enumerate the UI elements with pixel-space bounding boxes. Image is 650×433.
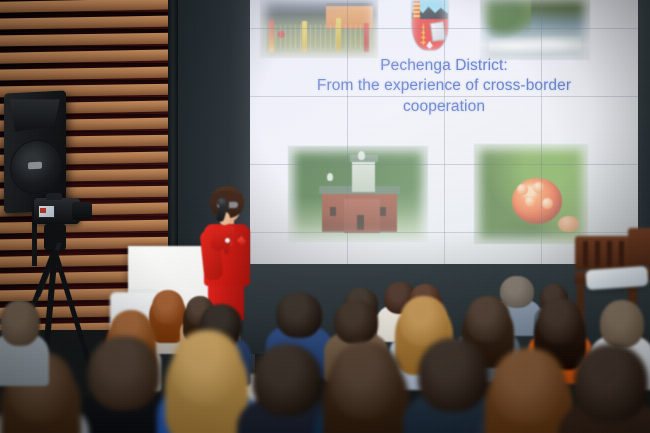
church-building	[322, 190, 398, 232]
berry-drupelet-4	[542, 198, 553, 209]
chair-backrest	[628, 228, 650, 266]
audience-member	[172, 330, 242, 433]
slide-image-church	[288, 146, 428, 242]
audience-member	[330, 342, 402, 433]
shield-mountains	[412, 5, 448, 19]
shield-drop	[426, 41, 432, 49]
audience-member	[492, 348, 566, 433]
barrier-post-3	[336, 18, 341, 51]
audience-head	[88, 336, 160, 410]
audience-head	[334, 300, 378, 344]
church-window-2	[380, 207, 386, 216]
audience-head	[574, 344, 648, 422]
chair-slat	[583, 241, 588, 267]
shield-shape	[411, 0, 449, 51]
chair-slat	[607, 241, 612, 267]
audience-member	[88, 336, 160, 433]
audience-head	[0, 300, 40, 346]
camera-screen-image	[40, 208, 46, 213]
church-bell-tower	[352, 159, 374, 192]
audience-head	[152, 290, 184, 324]
camera-viewfinder	[46, 193, 62, 200]
audience-head	[330, 342, 402, 418]
church-trees	[288, 146, 428, 242]
speaker-logo	[28, 162, 42, 170]
berry-drupelet-1	[517, 184, 528, 195]
audience-member	[574, 344, 648, 433]
river-foam	[489, 36, 581, 56]
checkpoint-building	[326, 3, 373, 28]
audience-head	[172, 330, 242, 404]
chair-slat	[619, 241, 624, 267]
church-porch	[344, 199, 380, 234]
audience-head	[252, 344, 322, 416]
slide-image-cloudberry	[474, 144, 588, 244]
church-roof	[319, 186, 400, 194]
slide-title-line2: From the experience of cross-border	[250, 76, 638, 96]
audience-head	[276, 292, 322, 338]
audience-head	[538, 298, 582, 344]
barrier-post-1	[269, 20, 274, 52]
slide-image-border-crossing	[260, 0, 378, 58]
shield-pylon	[418, 23, 429, 45]
chair-slat	[595, 241, 600, 267]
slide-image-river-rapids	[480, 0, 590, 60]
church-dome-center	[358, 151, 365, 160]
checkpoint-fence	[265, 25, 374, 50]
projection-screen: Pechenga District: From the experience o…	[250, 0, 638, 266]
barrier-post-4	[364, 23, 369, 52]
cloudberry-fruit	[512, 178, 562, 224]
shield-ore-emblem	[430, 21, 447, 42]
audience-member	[418, 338, 488, 433]
slide-title-line3: cooperation	[250, 97, 638, 117]
slide-title-line1: Pechenga District:	[250, 56, 638, 76]
cloudberry-secondary	[558, 216, 579, 232]
photo-scene: Pechenga District: From the experience o…	[0, 0, 650, 433]
church-door	[357, 215, 364, 230]
audience-member	[0, 300, 40, 406]
speaker-horn	[10, 97, 60, 134]
church-dome-left	[327, 173, 333, 181]
church-window-1	[330, 207, 336, 216]
audience-head	[418, 338, 488, 412]
camera-lens	[72, 202, 92, 220]
audience-head	[466, 296, 510, 342]
berry-drupelet-3	[525, 196, 536, 207]
river-trees	[482, 0, 530, 40]
slide-image-coat-of-arms	[405, 0, 453, 57]
shield-bars	[413, 1, 420, 19]
barrier-post-2	[302, 21, 307, 52]
berry-drupelet-2	[533, 182, 544, 193]
audience-member	[252, 344, 322, 433]
shield-sky	[412, 0, 448, 19]
presenter-necklace	[225, 238, 230, 243]
audience-head	[600, 300, 644, 348]
slide-title: Pechenga District: From the experience o…	[250, 56, 638, 117]
audience-head	[492, 348, 566, 424]
berry-leaves	[474, 144, 588, 244]
church-tower-roof	[350, 155, 378, 163]
